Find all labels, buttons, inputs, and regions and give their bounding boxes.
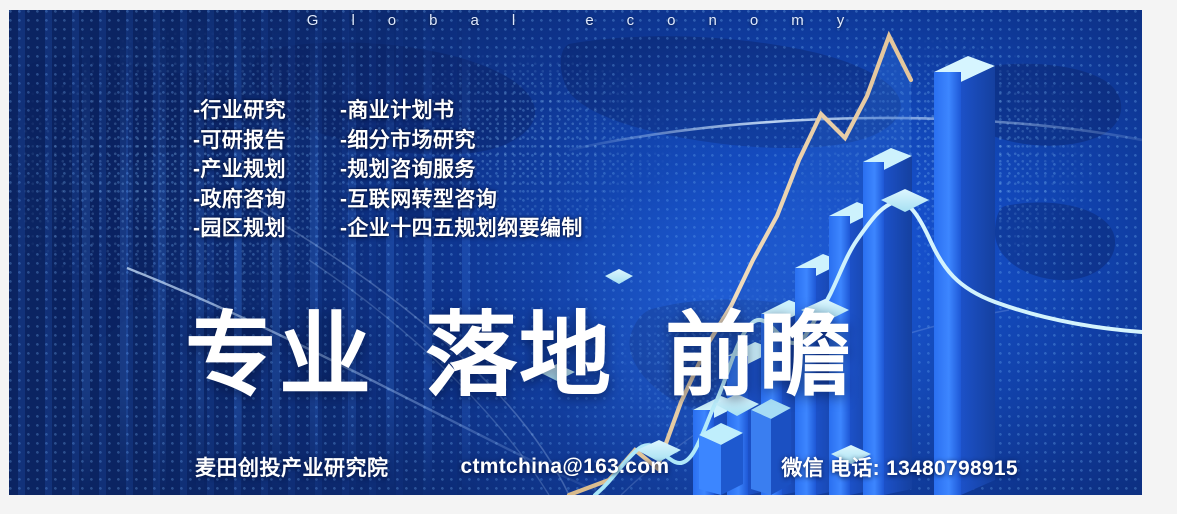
main-slogan: 专业 落地 前瞻: [185, 310, 853, 402]
list-item: -可研报告: [193, 126, 286, 156]
banner-root: Global economy -行业研究 -可研报告 -产业规划 -政府咨询 -…: [0, 0, 1177, 514]
organization-name: 麦田创投产业研究院: [195, 452, 389, 482]
service-column-left: -行业研究 -可研报告 -产业规划 -政府咨询 -园区规划: [193, 96, 286, 244]
email-address[interactable]: ctmtchina@163.com: [461, 455, 670, 479]
phone-wechat-contact[interactable]: 微信 电话: 13480798915: [781, 452, 1018, 482]
list-item: -行业研究: [193, 96, 286, 126]
slogan-word-3: 前瞻: [665, 310, 853, 402]
list-item: -政府咨询: [193, 185, 286, 215]
list-item: -园区规划: [193, 214, 286, 244]
list-item: -企业十四五规划纲要编制: [340, 214, 583, 244]
service-column-right: -商业计划书 -细分市场研究 -规划咨询服务 -互联网转型咨询 -企业十四五规划…: [340, 96, 583, 244]
list-item: -商业计划书: [340, 96, 583, 126]
list-item: -细分市场研究: [340, 126, 583, 156]
list-item: -规划咨询服务: [340, 155, 583, 185]
promotional-banner: Global economy -行业研究 -可研报告 -产业规划 -政府咨询 -…: [9, 10, 1142, 495]
page-title: Global economy: [9, 12, 1142, 29]
list-item: -产业规划: [193, 155, 286, 185]
list-item: -互联网转型咨询: [340, 185, 583, 215]
slogan-word-2: 落地: [425, 310, 613, 402]
bar-b7: [934, 56, 995, 495]
slogan-word-1: 专业: [185, 310, 373, 402]
service-lists: -行业研究 -可研报告 -产业规划 -政府咨询 -园区规划 -商业计划书 -细分…: [193, 96, 583, 244]
footer-contact-bar: 麦田创投产业研究院 ctmtchina@163.com 微信 电话: 13480…: [195, 452, 1018, 482]
growth-chart: [9, 10, 1142, 495]
